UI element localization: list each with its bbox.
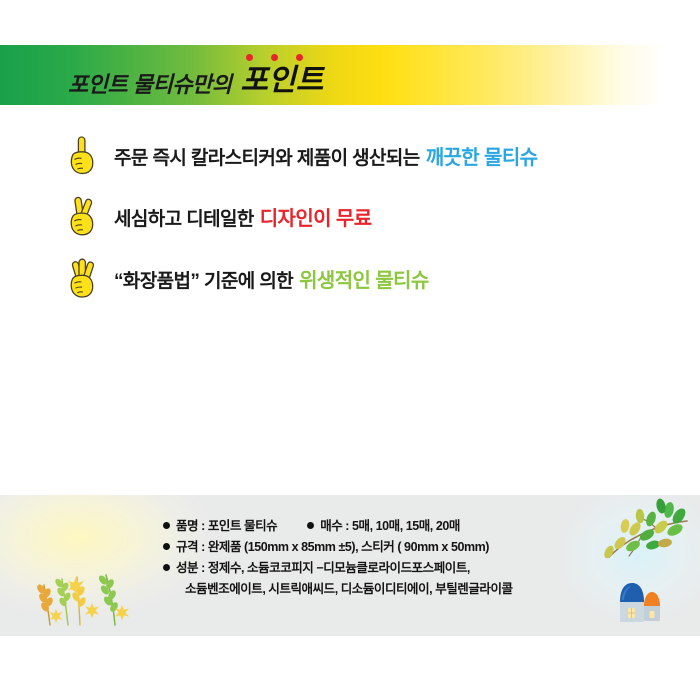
- footer-line-ingredients-2: 소듐벤조에이트, 시트릭애씨드, 디소듐이디티에이, 부틸렌글라이콜: [163, 579, 593, 600]
- leaf-branch-icon: [595, 497, 690, 577]
- point-text-plain: 주문 즉시 칼라스티커와 제품이 생산되는: [114, 148, 420, 169]
- header-plain-text: 포인트 물티슈만의: [68, 74, 232, 96]
- page-title: 포인트 물티슈만의 포인트: [68, 58, 323, 96]
- hand-three-fingers-icon: [64, 255, 104, 301]
- hand-two-fingers-icon: [64, 193, 104, 239]
- footer-spec-list: 품명 : 포인트 물티슈매수 : 5매, 10매, 15매, 20매 규격 : …: [163, 516, 593, 600]
- hand-one-finger-icon: [64, 132, 104, 178]
- point-text-plain: “화장품법” 기준에 의한: [114, 271, 293, 292]
- footer-line-product: 품명 : 포인트 물티슈매수 : 5매, 10매, 15매, 20매: [163, 516, 593, 537]
- footer-panel: 품명 : 포인트 물티슈매수 : 5매, 10매, 15매, 20매 규격 : …: [0, 495, 700, 636]
- point-text: 세심하고 디테일한디자인이 무료: [114, 202, 372, 231]
- bullet-dot-icon: [163, 564, 170, 571]
- header-accent-dots: [246, 54, 329, 61]
- point-item: 세심하고 디테일한디자인이 무료: [64, 193, 372, 239]
- red-dot-icon: [296, 54, 303, 61]
- point-item: 주문 즉시 칼라스티커와 제품이 생산되는깨끗한 물티슈: [64, 132, 537, 178]
- bullet-dot-icon: [163, 543, 170, 550]
- point-text-emphasis: 깨끗한 물티슈: [426, 147, 538, 169]
- point-text-emphasis: 위생적인 물티슈: [299, 270, 429, 292]
- footer-ingredients-first: 성분 : 정제수, 소듐코코피지 −디모늄클로라이드포스페이트,: [176, 561, 470, 575]
- point-text-plain: 세심하고 디테일한: [114, 209, 254, 230]
- footer-product-name: 품명 : 포인트 물티슈: [176, 519, 277, 533]
- red-dot-icon: [246, 54, 253, 61]
- footer-line-ingredients-1: 성분 : 정제수, 소듐코코피지 −디모늄클로라이드포스페이트,: [163, 558, 593, 579]
- footer-line-size: 규격 : 완제품 (150mm x 85mm ±5), 스티커 ( 90mm x…: [163, 537, 593, 558]
- header-accent-wrap: 포인트: [241, 66, 324, 96]
- bullet-dot-icon: [307, 522, 314, 529]
- footer-quantity: 매수 : 5매, 10매, 15매, 20매: [320, 519, 460, 533]
- point-text: 주문 즉시 칼라스티커와 제품이 생산되는깨끗한 물티슈: [114, 141, 537, 170]
- header-accent-text: 포인트: [241, 66, 324, 96]
- footer-size: 규격 : 완제품 (150mm x 85mm ±5), 스티커 ( 90mm x…: [176, 540, 489, 554]
- bullet-dot-icon: [163, 522, 170, 529]
- point-text: “화장품법” 기준에 의한위생적인 물티슈: [114, 264, 429, 293]
- footer-ingredients-second: 소듐벤조에이트, 시트릭애씨드, 디소듐이디티에이, 부틸렌글라이콜: [185, 582, 513, 596]
- red-dot-icon: [271, 54, 278, 61]
- grass-flowers-icon: [20, 547, 150, 627]
- houses-icon: [615, 580, 665, 626]
- point-text-emphasis: 디자인이 무료: [260, 208, 372, 230]
- point-item: “화장품법” 기준에 의한위생적인 물티슈: [64, 255, 429, 301]
